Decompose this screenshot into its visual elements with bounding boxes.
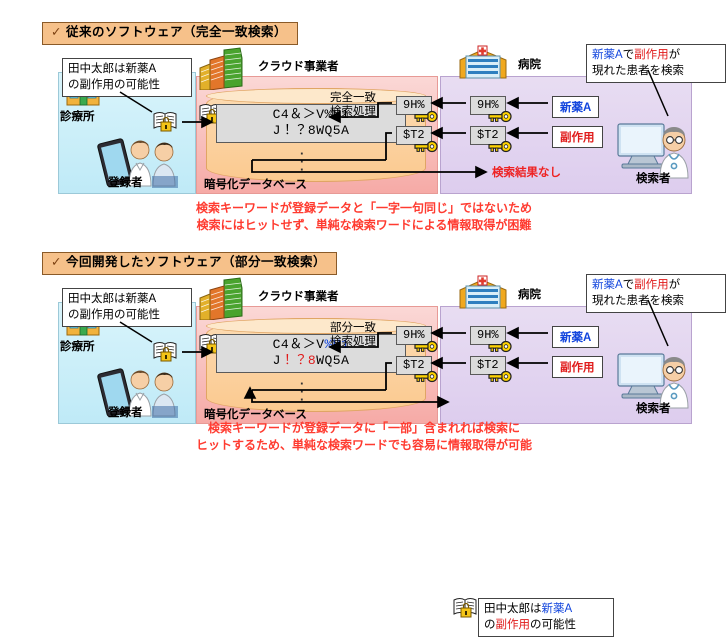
search-result-line1: 田中太郎は新薬A <box>484 602 608 618</box>
search-result-line2: の副作用の可能性 <box>484 618 608 634</box>
caption-line2: ヒットするため、単純な検索ワードでも容易に情報取得が可能 <box>0 437 728 454</box>
panel-conventional: ✓従来のソフトウェア（完全一致検索） 診療所 <box>0 0 728 229</box>
caption-line1: 検索キーワードが登録データと「一字一句同じ」ではないため <box>0 200 728 217</box>
flow-arrows <box>0 0 728 229</box>
caption-line1: 検索キーワードが登録データに「一部」含まれれば検索に <box>0 420 728 437</box>
result-book-lock-icon <box>452 596 480 618</box>
caption-developed: 検索キーワードが登録データに「一部」含まれれば検索に ヒットするため、単純な検索… <box>0 420 728 455</box>
search-result-box: 田中太郎は新薬A の副作用の可能性 <box>478 598 614 637</box>
